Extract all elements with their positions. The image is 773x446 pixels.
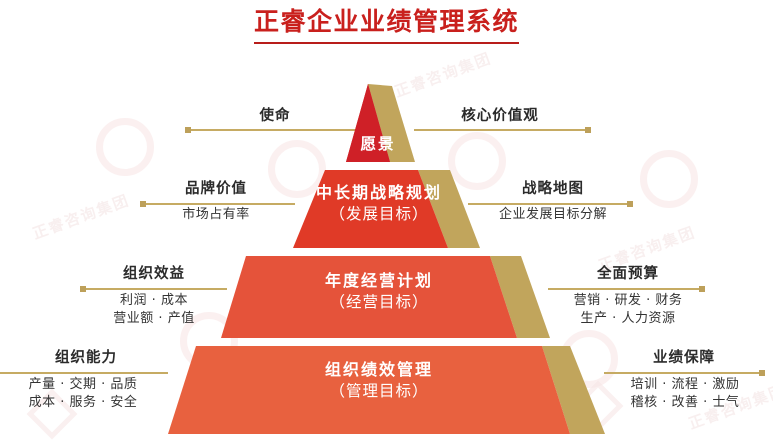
tier4-right-detail: 培训 · 流程 · 激励	[606, 376, 764, 394]
slide-canvas: 正睿咨询集团 正睿咨询集团 正睿咨询集团 正睿咨询集团 正睿咨询集团 正睿企业业…	[0, 0, 773, 446]
tier4-shape	[168, 346, 570, 434]
tier4-left-detail: 成本 · 服务 · 安全	[4, 394, 162, 412]
tier3-right-detail: 营销 · 研发 · 财务	[552, 292, 704, 310]
page-title-wrap: 正睿企业业绩管理系统	[0, 6, 773, 44]
tier4-right-details: 培训 · 流程 · 激励 稽核 · 改善 · 士气	[606, 376, 764, 413]
tier2-left-heading: 品牌价值	[140, 180, 292, 200]
tier4-left-label: 组织能力	[10, 349, 162, 369]
tier4-left-heading: 组织能力	[10, 349, 162, 369]
tier3-right-details: 营销 · 研发 · 财务 生产 · 人力资源	[552, 292, 704, 329]
page-title: 正睿企业业绩管理系统	[254, 6, 519, 44]
tier1-left-label: 使命	[205, 107, 345, 127]
tier3-shape	[221, 256, 517, 338]
tier3-right-detail: 生产 · 人力资源	[552, 310, 704, 328]
tier4-right-heading: 业绩保障	[608, 349, 760, 369]
watermark-ring	[96, 118, 154, 176]
tier4-left-detail: 产量 · 交期 · 品质	[4, 376, 162, 394]
tier4-right-label: 业绩保障	[608, 349, 760, 369]
tier2-left-details: 市场占有率	[140, 206, 292, 224]
tier2-right-detail: 企业发展目标分解	[474, 206, 632, 224]
watermark-ring	[640, 150, 698, 208]
watermark-text: 正睿咨询集团	[29, 189, 132, 244]
tier1-right-heading: 核心价值观	[420, 107, 580, 127]
tier3-right-label: 全面预算	[552, 265, 704, 285]
tier3-left-detail: 利润 · 成本	[80, 292, 228, 310]
tier2-right-details: 企业发展目标分解	[474, 206, 632, 224]
tier3-right-heading: 全面预算	[552, 265, 704, 285]
tier2-left-detail: 市场占有率	[140, 206, 292, 224]
tier1-left-heading: 使命	[205, 107, 345, 127]
tier2-left-label: 品牌价值	[140, 180, 292, 200]
connector-line-tier4-left	[0, 372, 168, 374]
tier4-left-details: 产量 · 交期 · 品质 成本 · 服务 · 安全	[4, 376, 162, 413]
tier1-right-label: 核心价值观	[420, 107, 580, 127]
tier3-left-detail: 营业额 · 产值	[80, 310, 228, 328]
tier3-left-label: 组织效益	[80, 265, 228, 285]
tier3-left-details: 利润 · 成本 营业额 · 产值	[80, 292, 228, 329]
tier4-right-detail: 稽核 · 改善 · 士气	[606, 394, 764, 412]
tier3-left-heading: 组织效益	[80, 265, 228, 285]
tier2-right-label: 战略地图	[474, 180, 632, 200]
tier2-right-heading: 战略地图	[474, 180, 632, 200]
